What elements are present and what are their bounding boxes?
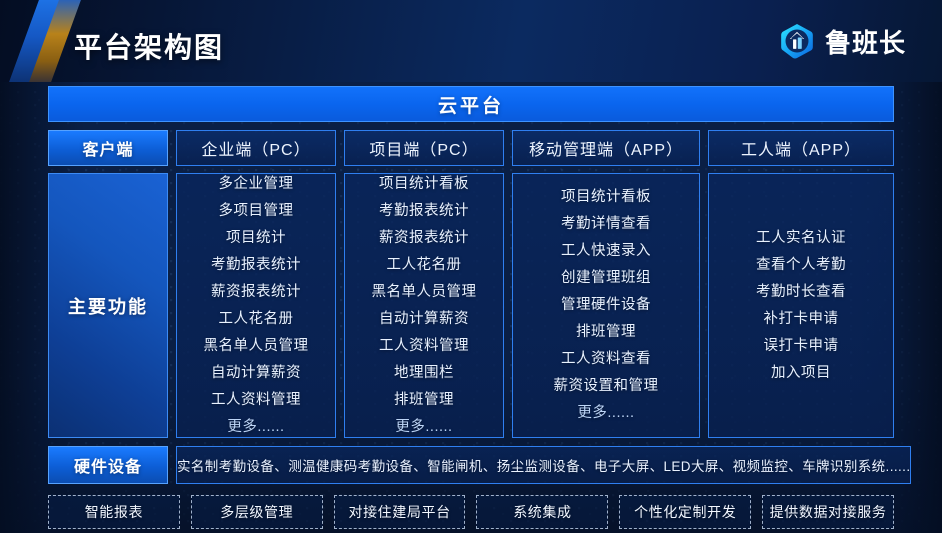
list-item: 考勤时长查看	[756, 280, 846, 305]
column-head-worker-app[interactable]: 工人端（APP）	[708, 130, 894, 166]
row-label-client: 客户端	[48, 130, 168, 166]
main-functions-row: 主要功能 多企业管理 多项目管理 项目统计 考勤报表统计 薪资报表统计 工人花名…	[48, 173, 894, 438]
list-item: 项目统计看板	[379, 172, 469, 197]
brand-logo: 鲁班长	[778, 22, 906, 60]
page-header: 平台架构图 鲁班长	[0, 0, 942, 82]
hardware-device-list: 实名制考勤设备、测温健康码考勤设备、智能闸机、扬尘监测设备、电子大屏、LED大屏…	[176, 446, 911, 484]
list-item-more[interactable]: 更多......	[395, 415, 452, 440]
list-item: 工人资料管理	[211, 388, 301, 413]
page-title: 平台架构图	[74, 26, 224, 66]
row-label-main-functions: 主要功能	[48, 173, 168, 438]
list-item-more[interactable]: 更多......	[227, 415, 284, 440]
service-item-multilevel-management[interactable]: 多层级管理	[191, 495, 323, 529]
service-item-smart-report[interactable]: 智能报表	[48, 495, 180, 529]
service-row: 智能报表 多层级管理 对接住建局平台 系统集成 个性化定制开发 提供数据对接服务	[48, 495, 894, 529]
list-item: 排班管理	[394, 388, 454, 413]
service-item-data-docking-service[interactable]: 提供数据对接服务	[762, 495, 894, 529]
list-item: 查看个人考勤	[756, 253, 846, 278]
list-item: 薪资报表统计	[211, 280, 301, 305]
function-list-enterprise-pc: 多企业管理 多项目管理 项目统计 考勤报表统计 薪资报表统计 工人花名册 黑名单…	[176, 173, 336, 438]
row-label-hardware: 硬件设备	[48, 446, 168, 484]
list-item: 工人实名认证	[756, 226, 846, 251]
list-item: 多项目管理	[219, 199, 294, 224]
service-item-gov-platform-integration[interactable]: 对接住建局平台	[334, 495, 466, 529]
service-item-custom-development[interactable]: 个性化定制开发	[619, 495, 751, 529]
list-item-more[interactable]: 更多......	[577, 401, 634, 426]
list-item: 管理硬件设备	[561, 293, 651, 318]
list-item: 工人资料管理	[379, 334, 469, 359]
list-item: 自动计算薪资	[211, 361, 301, 386]
list-item: 多企业管理	[219, 172, 294, 197]
list-item: 薪资设置和管理	[554, 374, 659, 399]
list-item: 工人资料查看	[561, 347, 651, 372]
service-item-system-integration[interactable]: 系统集成	[476, 495, 608, 529]
cloud-platform-bar: 云平台	[48, 86, 894, 122]
client-header-row: 客户端 企业端（PC） 项目端（PC） 移动管理端（APP） 工人端（APP）	[48, 130, 894, 166]
list-item: 误打卡申请	[764, 334, 839, 359]
list-item: 排班管理	[576, 320, 636, 345]
list-item: 工人花名册	[387, 253, 462, 278]
list-item: 薪资报表统计	[379, 226, 469, 251]
hexagon-building-logo-icon	[778, 22, 816, 60]
column-head-enterprise-pc[interactable]: 企业端（PC）	[176, 130, 336, 166]
list-item: 考勤报表统计	[211, 253, 301, 278]
list-item: 加入项目	[771, 361, 831, 386]
column-head-project-pc[interactable]: 项目端（PC）	[344, 130, 504, 166]
list-item: 考勤报表统计	[379, 199, 469, 224]
column-head-mobile-admin-app[interactable]: 移动管理端（APP）	[512, 130, 700, 166]
list-item: 考勤详情查看	[561, 212, 651, 237]
list-item: 创建管理班组	[561, 266, 651, 291]
list-item: 项目统计	[226, 226, 286, 251]
list-item: 自动计算薪资	[379, 307, 469, 332]
function-list-project-pc: 项目统计看板 考勤报表统计 薪资报表统计 工人花名册 黑名单人员管理 自动计算薪…	[344, 173, 504, 438]
list-item: 工人快速录入	[561, 239, 651, 264]
list-item: 项目统计看板	[561, 185, 651, 210]
architecture-board: 云平台 客户端 企业端（PC） 项目端（PC） 移动管理端（APP） 工人端（A…	[48, 86, 894, 529]
list-item: 补打卡申请	[764, 307, 839, 332]
function-list-mobile-admin-app: 项目统计看板 考勤详情查看 工人快速录入 创建管理班组 管理硬件设备 排班管理 …	[512, 173, 700, 438]
list-item: 地理围栏	[394, 361, 454, 386]
list-item: 工人花名册	[219, 307, 294, 332]
list-item: 黑名单人员管理	[204, 334, 309, 359]
brand-name: 鲁班长	[825, 23, 906, 60]
list-item: 黑名单人员管理	[372, 280, 477, 305]
hardware-row: 硬件设备 实名制考勤设备、测温健康码考勤设备、智能闸机、扬尘监测设备、电子大屏、…	[48, 446, 894, 484]
function-list-worker-app: 工人实名认证 查看个人考勤 考勤时长查看 补打卡申请 误打卡申请 加入项目	[708, 173, 894, 438]
